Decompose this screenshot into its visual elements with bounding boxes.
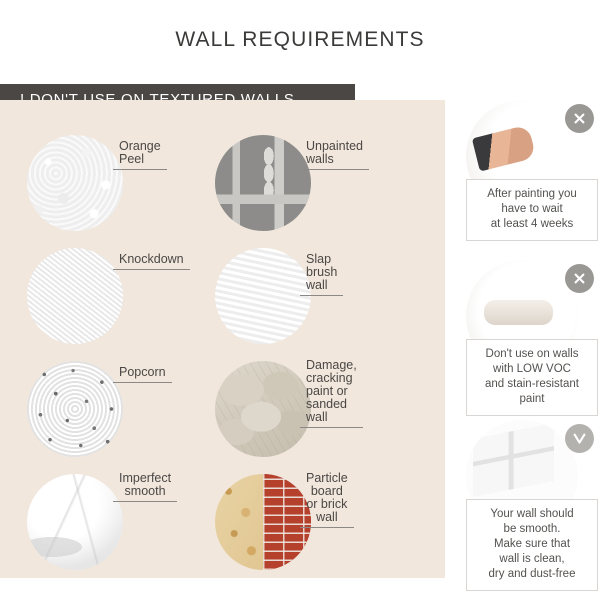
texture-label-knockdown: Knockdown [113,253,190,270]
texture-swatch-knockdown [27,248,123,344]
cross-icon [565,264,594,293]
texture-label-popcorn: Popcorn [113,366,172,383]
texture-label-orange-peel: Orange Peel [113,140,167,170]
texture-swatch-unpainted-walls [215,135,311,231]
texture-swatch-particle-board-brick [215,474,311,570]
card-caption-smooth-clean-wall: Your wall should be smooth. Make sure th… [466,499,598,591]
card-caption-wait-4-weeks: After painting you have to wait at least… [466,179,598,241]
infographic-page: WALL REQUIREMENTS ! DON'T USE ON TEXTURE… [0,0,600,600]
texture-label-particle-board-brick: Particle board or brick wall [300,472,354,528]
texture-label-unpainted-walls: Unpainted walls [300,140,369,170]
texture-swatch-damage-cracking [215,361,311,457]
texture-label-imperfect-smooth: Imperfect smooth [113,472,177,502]
requirement-card-wait-4-weeks: After painting you have to wait at least… [458,100,598,212]
texture-label-damage-cracking: Damage, cracking paint or sanded wall [300,359,363,428]
cross-icon [565,104,594,133]
requirement-card-smooth-clean-wall: Your wall should be smooth. Make sure th… [458,420,598,532]
texture-swatch-slap-brush-wall [215,248,311,344]
texture-swatch-imperfect-smooth [27,474,123,570]
check-icon [565,424,594,453]
texture-swatch-popcorn [27,361,123,457]
card-caption-low-voc-paint: Don't use on walls with LOW VOC and stai… [466,339,598,416]
requirement-card-low-voc-paint: Don't use on walls with LOW VOC and stai… [458,260,598,372]
texture-swatch-orange-peel [27,135,123,231]
texture-item-particle-board-brick: Particle board or brick wall [0,0,96,96]
texture-label-slap-brush-wall: Slap brush wall [300,253,343,296]
